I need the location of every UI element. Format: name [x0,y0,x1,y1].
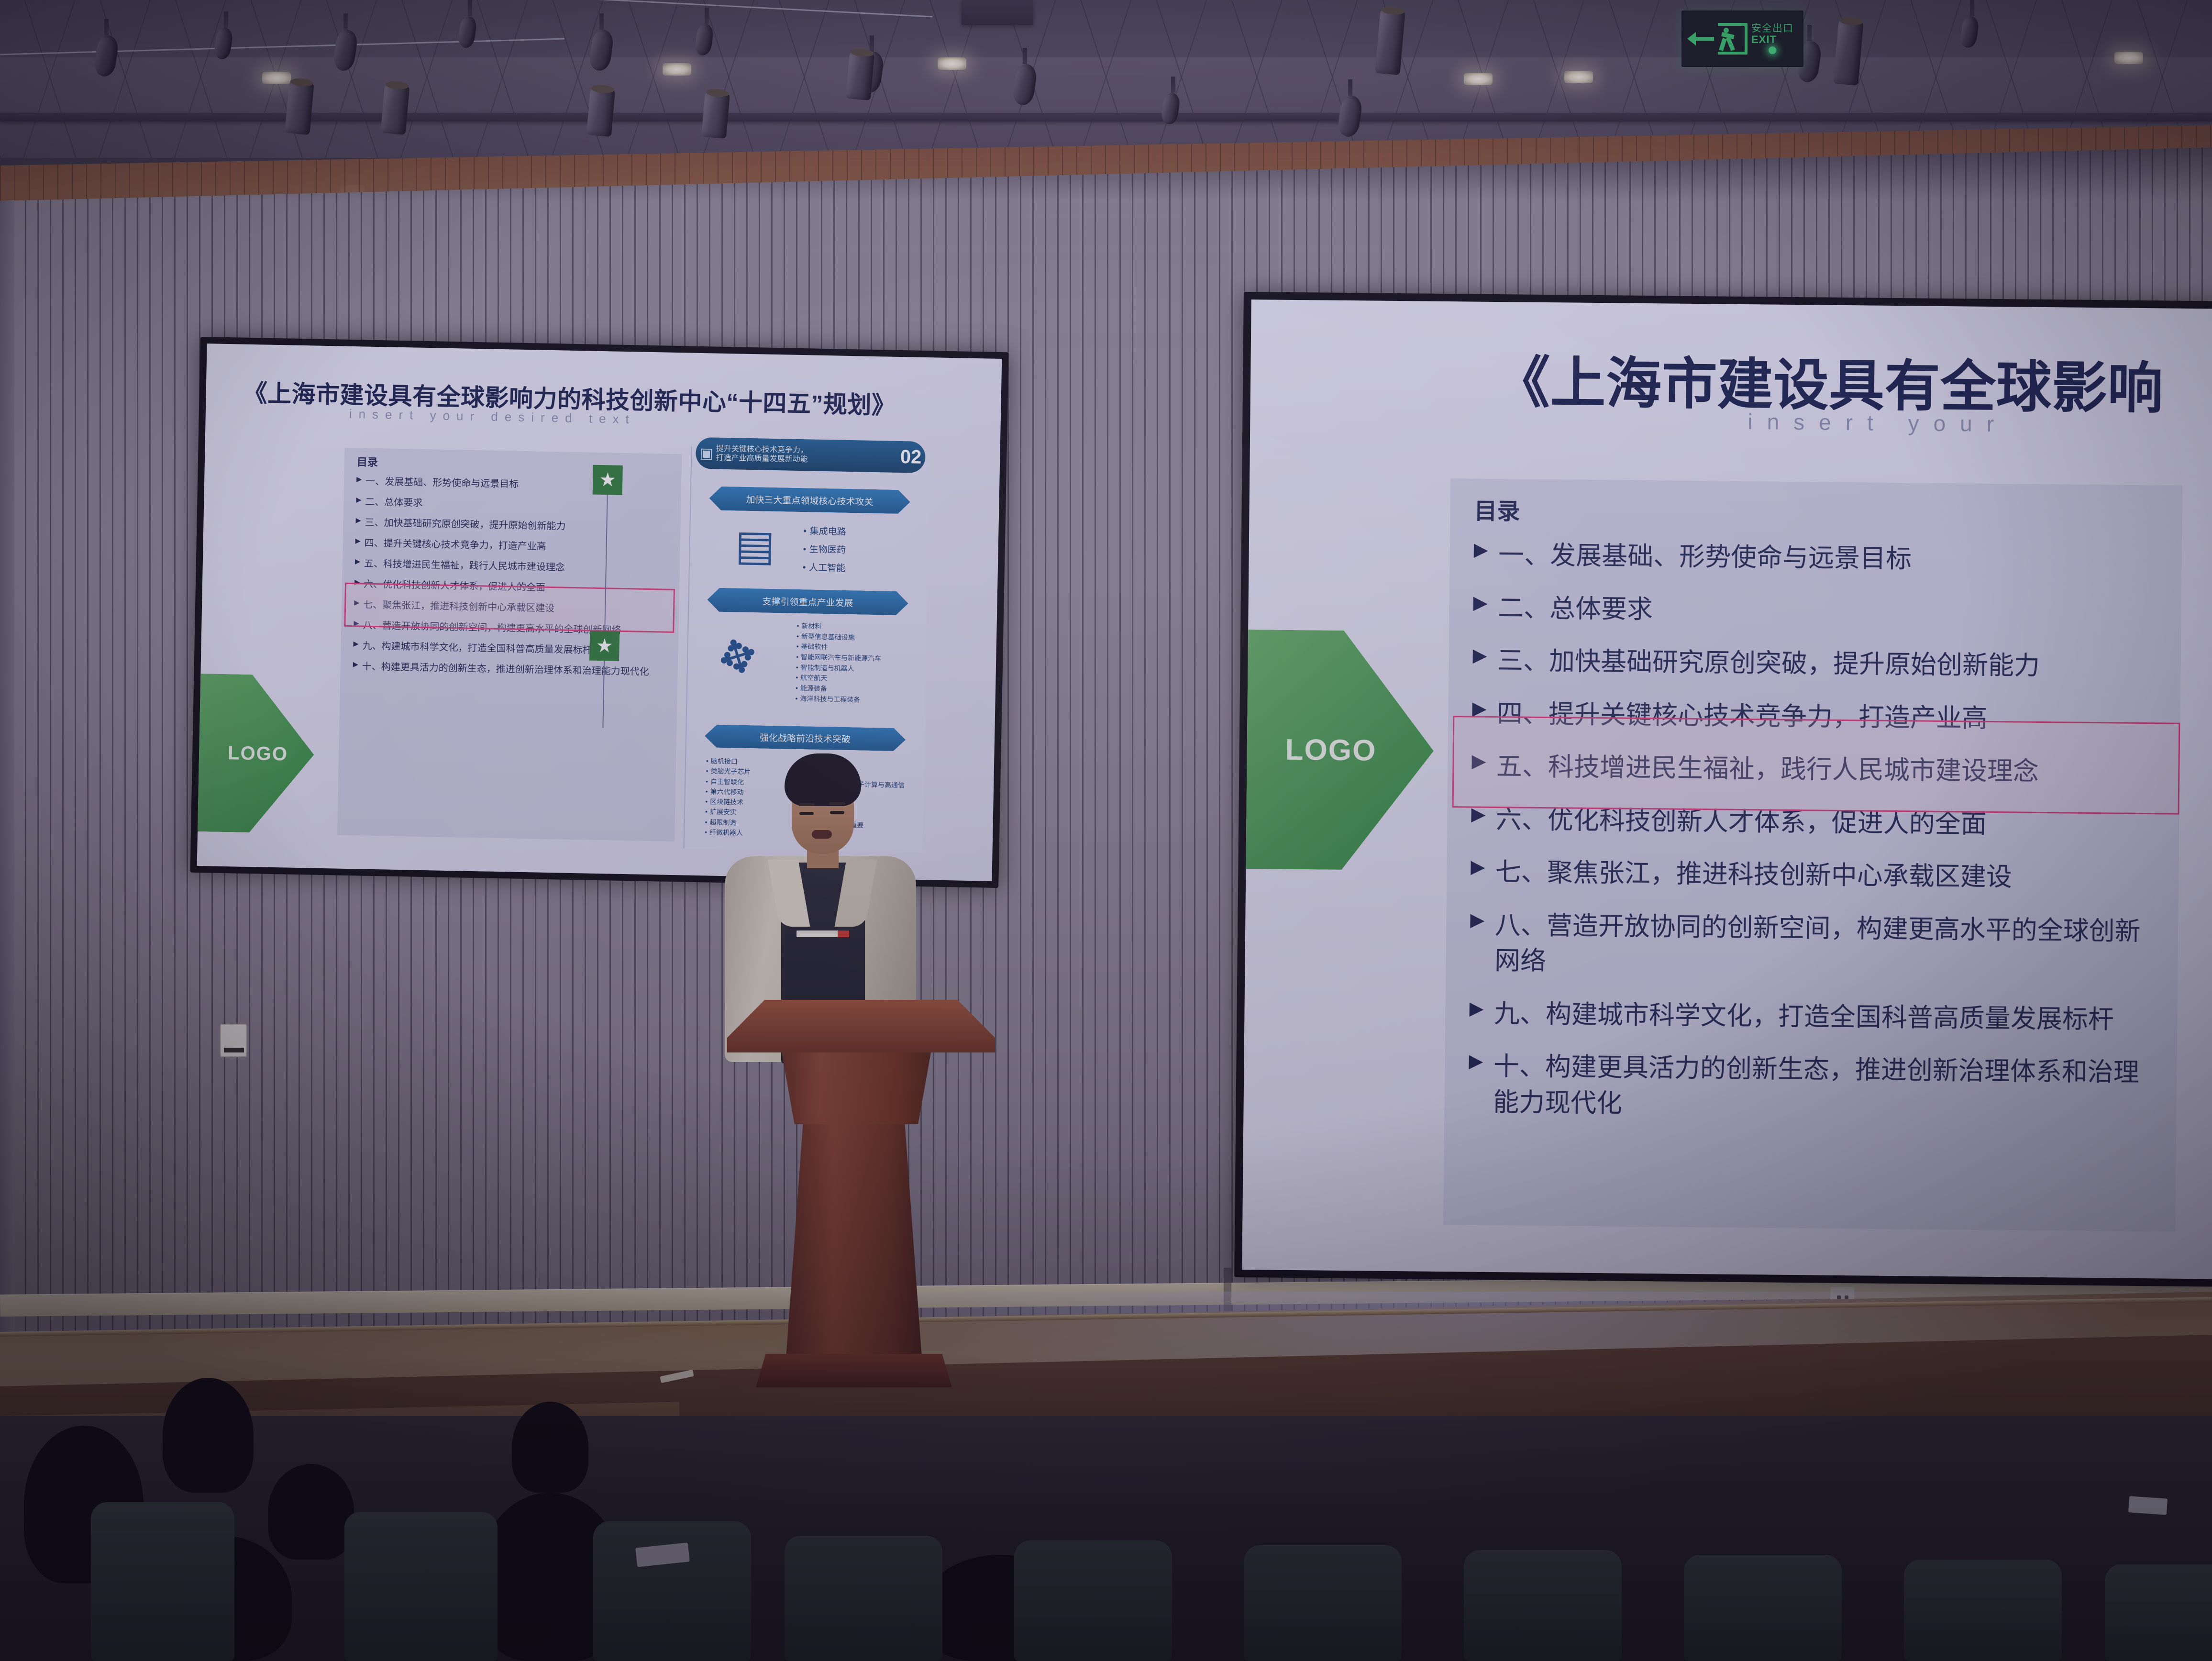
infographic-bullet-label: 基础软件 [801,642,828,653]
cylinder-pendant-light [846,51,875,100]
bullet-dot-icon: • [803,541,806,559]
running-person-icon [1718,23,1747,55]
chip-icon: ▣ [699,444,713,462]
auditorium-seat [785,1536,942,1661]
toc-item-label: 一、发展基础、形势使命与远景目标 [1498,537,1912,577]
toc-item-label: 七、聚焦张江，推进科技创新中心承载区建设 [1495,854,2012,895]
infographic-bullet-label: 新型信息基础设施 [801,631,855,643]
toc-item: ▶十、构建更具活力的创新生态，推进创新治理体系和治理能力现代化 [353,660,673,680]
audience-head [512,1402,588,1493]
auditorium-seat [1244,1545,1402,1661]
right-toc-heading: 目录 [1474,492,1520,526]
bullet-dot-icon: • [796,631,799,642]
left-slide-logo: LOGO [197,673,316,833]
left-logo-label: LOGO [228,742,288,765]
toc-item-label: 八、营造开放协同的创新空间，构建更高水平的全球创新网络 [1494,908,2159,985]
right-slide-subtitle: insert your [1747,409,2008,437]
toc-item: ▶十、构建更具活力的创新生态，推进创新治理体系和治理能力现代化 [1468,1049,2157,1127]
track-spotlight [1014,48,1035,64]
auditorium-seat [2105,1564,2212,1661]
bullet-dot-icon: • [796,683,798,694]
toc-item-label: 二、总体要求 [1498,590,1653,628]
seat-row-marker [2128,1496,2168,1515]
bullet-dot-icon: • [705,827,707,837]
wall-left-trim [0,144,14,1359]
star-marker: ★ [593,465,623,495]
bullet-dot-icon: • [795,694,797,704]
toc-item: ▶二、总体要求 [1473,590,2162,632]
bullet-dot-icon: • [796,663,798,673]
bullet-dot-icon: • [796,642,798,652]
toc-item: ▶八、营造开放协同的创新空间，构建更高水平的全球创新网络 [1470,907,2159,985]
infographic-bullet-label: 航空航天 [800,673,827,684]
toc-bullet-icon: ▶ [1469,996,1483,1021]
arrow-left-icon [1687,31,1714,47]
infographic-bullet-label: 智能制造与机器人 [800,663,854,674]
toc-item: ▶七、聚焦张江，推进科技创新中心承载区建设 [1471,854,2160,897]
toc-bullet-icon: ▶ [1469,1049,1483,1074]
track-spotlight [696,8,717,24]
track-spotlight [1961,0,1982,16]
recessed-light [1464,73,1493,85]
podium-body [765,1043,947,1124]
ceiling-mount-bracket [962,0,1033,25]
track-spotlight [459,0,480,16]
ceiling-edge-beam [0,113,2212,122]
toc-item: ▶五、科技增进民生福祉，践行人民城市建设理念 [355,557,675,577]
toc-item-label: 二、总体要求 [365,496,423,510]
toc-bullet-icon: ▶ [355,536,361,546]
track-spotlight [96,19,117,35]
audience-head [163,1378,254,1493]
toc-bullet-icon: ▶ [1472,643,1487,669]
cylinder-pendant-light [381,83,410,135]
right-slide-logo: LOGO [1242,629,1435,871]
track-spotlight [1162,77,1183,93]
toc-bullet-icon: ▶ [353,639,358,649]
infographic-bullet-label: 能源装备 [800,683,827,694]
toc-bullet-icon: ▶ [355,557,360,567]
recessed-light [262,72,291,84]
infographic-bullet: •生物医药 [803,541,846,560]
presenter-mouth [812,830,832,839]
recessed-light [938,57,966,70]
infographic-bullet-label: 智能网联汽车与新能源汽车 [801,652,881,664]
bullet-dot-icon: • [803,522,807,541]
toc-item-label: 一、发展基础、形势使命与远景目标 [365,475,519,492]
infographic-bullet-label: 人工智能 [809,559,846,577]
bullet-dot-icon: • [705,807,708,817]
toc-item-label: 九、构建城市科学文化，打造全国科普高质量发展标杆 [362,640,592,658]
track-spotlight [215,11,236,28]
toc-item: ▶四、提升关键核心技术竞争力，打造产业高 [355,536,675,556]
bullet-dot-icon: • [802,559,806,577]
toc-item-label: 五、科技增进民生福祉，践行人民城市建设理念 [364,557,565,575]
emergency-exit-sign: 安全出口 EXIT [1681,11,1803,67]
exit-label-cn: 安全出口 [1751,23,1793,34]
toc-bullet-icon: ▶ [1474,537,1488,563]
auditorium-seat [593,1521,751,1661]
cylinder-pendant-light [586,87,616,137]
cylinder-pendant-light [285,80,314,135]
auditorium-seat [1014,1540,1172,1661]
toc-item: ▶九、构建城市科学文化，打造全国科普高质量发展标杆 [1469,996,2158,1038]
podium-column [785,1110,923,1378]
toc-bullet-icon: ▶ [1473,590,1487,616]
right-toc-highlight [1452,716,2180,815]
toc-item-label: 三、加快基础研究原创突破，提升原始创新能力 [365,516,565,534]
auditorium-seat [1904,1560,2062,1661]
presenter-shirt-logo [796,930,849,937]
toc-item-label: 九、构建城市科学文化，打造全国科普高质量发展标杆 [1494,996,2114,1038]
right-slide: 《上海市建设具有全球影响 insert your LOGO 目录 ▶一、发展基础… [1242,299,2212,1279]
presenter-hair [785,753,861,806]
podium-base [756,1354,952,1387]
infographic-band-3-title: 强化战略前沿技术突破 [705,724,906,751]
bullet-dot-icon: • [796,621,799,631]
bullet-dot-icon: • [705,797,708,807]
toc-item: ▶一、发展基础、形势使命与远景目标 [1473,537,2163,579]
podium-desktop [727,1000,995,1052]
toc-item-label: 十、构建更具活力的创新生态，推进创新治理体系和治理能力现代化 [362,660,649,679]
recessed-light [1564,71,1593,83]
infographic-band-2-title: 支撑引领重点产业发展 [707,587,908,615]
conference-hall-photo: 安全出口 EXIT 《上海市建设具有全球影响力的科技创新中心“十四五”规划》 i… [0,0,2212,1661]
bullet-dot-icon: • [706,756,708,766]
toc-bullet-icon: ▶ [356,495,361,505]
right-toc-list: ▶一、发展基础、形势使命与远景目标▶二、总体要求▶三、加快基础研究原创突破，提升… [1468,537,2163,1144]
infographic-band-2-bullets: •新材料•新型信息基础设施•基础软件•智能网联汽车与新能源汽车•智能制造与机器人… [795,621,882,706]
infographic-band-1-bullets: •集成电路•生物医药•人工智能 [802,522,846,578]
right-logo-label: LOGO [1285,732,1376,767]
exit-status-led [1769,46,1776,54]
infographic-bullet: •集成电路 [803,522,846,542]
track-spotlight [1339,79,1360,96]
toc-item: ▶二、总体要求 [356,495,676,515]
infographic-band-1-title: 加快三大重点领域核心技术攻关 [709,486,910,514]
toc-bullet-icon: ▶ [356,475,362,485]
bullet-dot-icon: • [706,766,708,776]
auditorium-seat [1684,1555,1842,1661]
infographic-bullet-label: 海洋科技与工程装备 [800,694,860,705]
right-projection-screen: 《上海市建设具有全球影响 insert your LOGO 目录 ▶一、发展基础… [1234,292,2212,1287]
infographic-section-number: 02 [900,446,921,468]
track-spotlight [335,13,356,30]
bullet-dot-icon: • [706,776,708,786]
infographic-bullet-label: 集成电路 [809,522,846,541]
infographic-section-header: ▣ 提升关键核心技术竞争力， 打造产业高质量发展新动能 02 [696,437,926,473]
light-switch[interactable] [220,1024,247,1057]
infographic-title-line2: 打造产业高质量发展新动能 [716,454,807,465]
toc-bullet-icon: ▶ [353,660,358,670]
auditorium-seat [344,1512,498,1661]
recessed-light [2114,52,2143,64]
chip-illustration-icon: ▤ [735,520,775,570]
infographic-bullet-label: 生物医药 [809,541,846,559]
infographic-bullet-label: 新材料 [801,621,821,631]
star-marker: ★ [589,631,619,661]
toc-item-label: 十、构建更具活力的创新生态，推进创新治理体系和治理能力现代化 [1493,1049,2158,1126]
toc-bullet-icon: ▶ [1471,854,1485,880]
left-toc-list: ▶一、发展基础、形势使命与远景目标▶二、总体要求▶三、加快基础研究原创突破，提升… [353,475,677,687]
toc-item: ▶三、加快基础研究原创突破，提升原始创新能力 [1472,643,2162,685]
exit-label-en: EXIT [1751,34,1793,45]
bullet-dot-icon: • [706,786,708,797]
bullet-dot-icon: • [796,652,798,663]
toc-bullet-icon: ▶ [1470,907,1484,933]
recessed-light [663,63,691,76]
auditorium-seat [1464,1550,1622,1661]
infographic-bullet: •人工智能 [802,559,845,578]
cylinder-pendant-light [701,91,730,139]
toc-bullet-icon: ▶ [355,516,361,526]
track-spotlight [591,13,612,30]
bullet-dot-icon: • [705,817,707,827]
bullet-dot-icon: • [796,673,798,683]
left-toc-heading: 目录 [357,454,378,469]
auditorium-seat [91,1502,234,1661]
audience-head [268,1464,354,1560]
exit-sign-text: 安全出口 EXIT [1751,23,1793,54]
toc-item: ▶三、加快基础研究原创突破，提升原始创新能力 [355,516,676,536]
toc-item-label: 四、提升关键核心技术竞争力，打造产业高 [364,537,546,554]
infographic-bullet: •海洋科技与工程装备 [795,694,880,706]
toc-item-label: 三、加快基础研究原创突破，提升原始创新能力 [1497,643,2040,684]
left-toc-highlight [344,583,675,633]
toc-item: ▶九、构建城市科学文化，打造全国科普高质量发展标杆 [353,639,674,659]
